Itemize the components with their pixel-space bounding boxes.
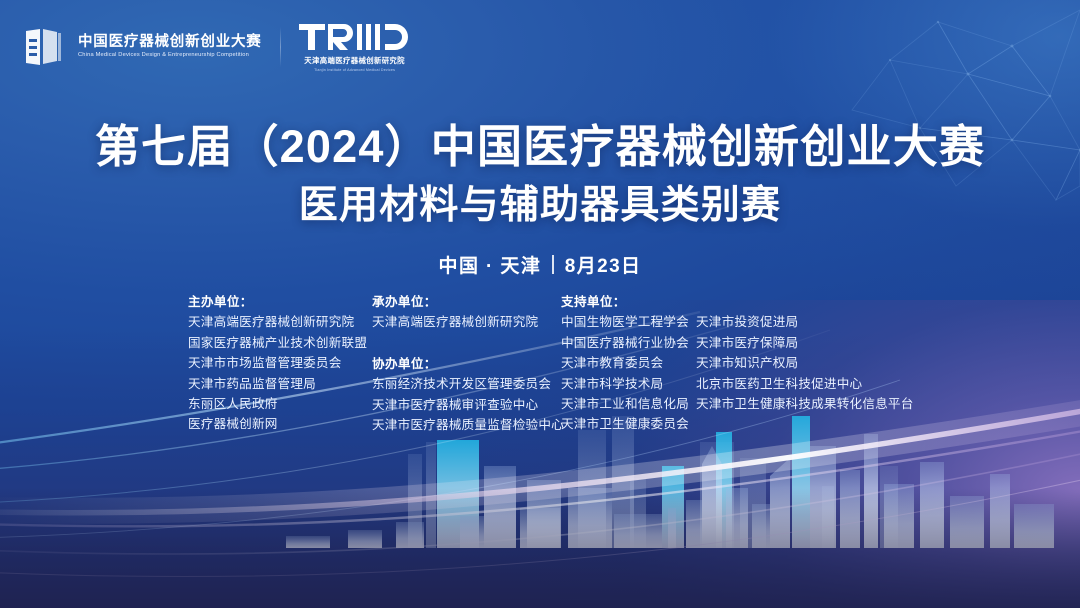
- org-item: 天津市知识产权局: [696, 353, 906, 373]
- event-meta-line: 中国 · 天津 8月23日: [0, 251, 1080, 278]
- org-group-supporters-left: 支持单位： 中国生物医学工程学会 中国医疗器械行业协会 天津市教育委员会 天津市…: [561, 292, 696, 435]
- event-date: 8月23日: [565, 251, 642, 278]
- logo-secondary-en-text: Tianjin Institute of Advanced Medical De…: [314, 68, 395, 72]
- org-item: 中国医疗器械行业协会: [561, 333, 696, 353]
- org-group-heading: 承办单位：: [372, 292, 561, 312]
- org-item: 天津市卫生健康委员会: [561, 414, 696, 434]
- org-group-heading: 支持单位：: [561, 292, 696, 312]
- logo-trmd-institute: 天津高端医疗器械创新研究院 Tianjin Institute of Advan…: [299, 22, 411, 72]
- org-item: 天津市医疗保障局: [696, 333, 906, 353]
- header-logos: 中国医疗器械创新创业大赛 China Medical Devices Desig…: [24, 22, 411, 72]
- org-group-supporters-right: 天津市投资促进局 天津市医疗保障局 天津市知识产权局 北京市医药卫生科技促进中心…: [696, 292, 906, 414]
- org-item: 中国生物医学工程学会: [561, 312, 696, 332]
- org-item: 东丽区人民政府: [188, 394, 372, 414]
- org-group-coorganizer: 协办单位： 东丽经济技术开发区管理委员会 天津市医疗器械审评查验中心 天津市医疗…: [372, 354, 561, 436]
- poster-title-line2: 医用材料与辅助器具类别赛: [0, 180, 1080, 231]
- organizations-column-3: 支持单位： 中国生物医学工程学会 中国医疗器械行业协会 天津市教育委员会 天津市…: [561, 292, 696, 435]
- org-item: 天津市卫生健康科技成果转化信息平台: [696, 394, 906, 414]
- event-poster: 中国医疗器械创新创业大赛 China Medical Devices Desig…: [0, 0, 1080, 608]
- org-group-heading: 协办单位：: [372, 354, 561, 374]
- logo-secondary-cn-text: 天津高端医疗器械创新研究院: [304, 55, 405, 66]
- org-item: 天津市医疗器械审评查验中心: [372, 395, 561, 415]
- org-item: 北京市医药卫生科技促进中心: [696, 374, 906, 394]
- org-item: 天津市医疗器械质量监督检验中心: [372, 415, 561, 435]
- poster-title-line1: 第七届（2024）中国医疗器械创新创业大赛: [0, 118, 1080, 176]
- organizations-column-4: 天津市投资促进局 天津市医疗保障局 天津市知识产权局 北京市医药卫生科技促进中心…: [696, 292, 906, 414]
- org-item: 天津市药品监督管理局: [188, 374, 372, 394]
- org-item: 医疗器械创新网: [188, 414, 372, 434]
- event-location: 中国 · 天津: [439, 251, 542, 278]
- org-item: 天津市市场监督管理委员会: [188, 353, 372, 373]
- organizations-section: 主办单位： 天津高端医疗器械创新研究院 国家医疗器械产业技术创新联盟 天津市市场…: [188, 292, 906, 435]
- background-bottom-vignette: [0, 488, 1080, 608]
- org-group-heading: 主办单位：: [188, 292, 372, 312]
- organizations-column-1: 主办单位： 天津高端医疗器械创新研究院 国家医疗器械产业技术创新联盟 天津市市场…: [188, 292, 372, 435]
- org-group-organizer: 承办单位： 天津高端医疗器械创新研究院: [372, 292, 561, 333]
- logo-primary-cn-text: 中国医疗器械创新创业大赛: [78, 34, 262, 51]
- org-item: 天津市科学技术局: [561, 374, 696, 394]
- org-item: 天津高端医疗器械创新研究院: [188, 312, 372, 332]
- org-item: 天津市工业和信息化局: [561, 394, 696, 414]
- org-item: 天津市投资促进局: [696, 312, 906, 332]
- logo-primary-en-text: China Medical Devices Design & Entrepren…: [78, 52, 265, 59]
- title-block: 第七届（2024）中国医疗器械创新创业大赛 医用材料与辅助器具类别赛 中国 · …: [0, 118, 1080, 278]
- trmd-wordmark-icon: [299, 22, 411, 52]
- logo-divider: [280, 27, 281, 67]
- org-group-host: 主办单位： 天津高端医疗器械创新研究院 国家医疗器械产业技术创新联盟 天津市市场…: [188, 292, 372, 435]
- logo-china-medical-devices-competition: 中国医疗器械创新创业大赛 China Medical Devices Desig…: [24, 27, 262, 67]
- org-item: 国家医疗器械产业技术创新联盟: [188, 333, 372, 353]
- org-item: 天津高端医疗器械创新研究院: [372, 312, 561, 332]
- organizations-column-2: 承办单位： 天津高端医疗器械创新研究院 协办单位： 东丽经济技术开发区管理委员会…: [372, 292, 561, 435]
- org-item: 天津市教育委员会: [561, 353, 696, 373]
- meta-separator: [552, 255, 554, 274]
- open-book-door-logo-icon: [24, 27, 68, 67]
- org-item: 东丽经济技术开发区管理委员会: [372, 374, 561, 394]
